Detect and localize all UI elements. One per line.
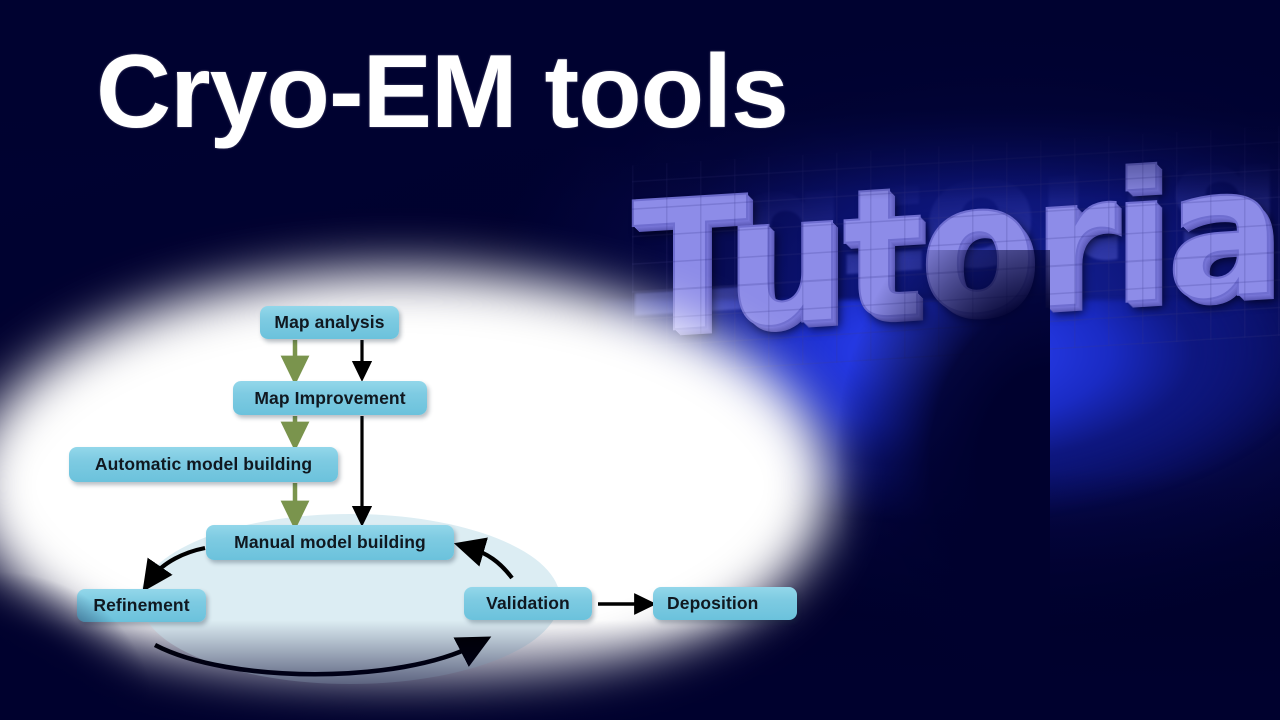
node-label: Validation (486, 593, 570, 614)
slide-title: Cryo-EM tools (96, 31, 788, 154)
node-label: Map Improvement (254, 388, 405, 409)
node-automatic-model-building[interactable]: Automatic model building (69, 447, 338, 482)
node-map-improvement[interactable]: Map Improvement (233, 381, 427, 415)
node-label: Manual model building (234, 532, 426, 553)
node-label: Automatic model building (95, 454, 312, 475)
left-edge-vignette (0, 520, 260, 720)
arrow-validation-to-manual (470, 548, 512, 578)
slide-canvas: Tutorial Tutorial Cryo-EM tools (0, 0, 1280, 720)
node-label: Map analysis (274, 312, 384, 333)
node-validation[interactable]: Validation (464, 587, 592, 620)
node-map-analysis[interactable]: Map analysis (260, 306, 399, 339)
